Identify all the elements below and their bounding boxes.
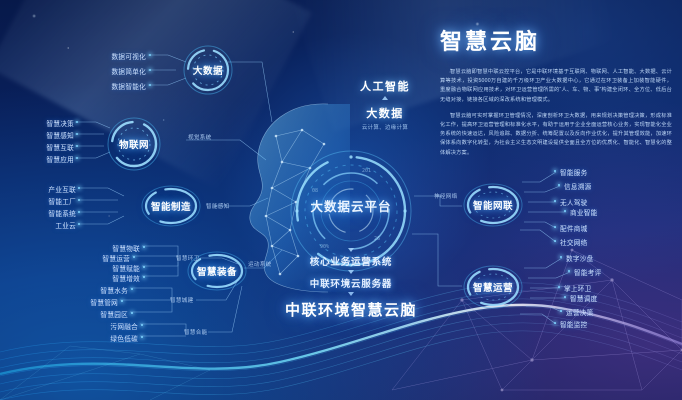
- arrow-down-icon: [348, 292, 354, 296]
- bottom-stack-line1: 核心业务运营系统: [268, 254, 434, 268]
- leaf-label: 配件商城: [560, 223, 588, 233]
- arrow-down-icon: [348, 270, 354, 274]
- leaf-dot-icon: [76, 145, 78, 147]
- connector-label-vision: 视觉系统: [188, 133, 212, 141]
- svg-text:26: 26: [374, 236, 380, 242]
- leaf-label: 数据智能化: [88, 81, 146, 91]
- leaf-label: 智慧物联: [84, 243, 140, 253]
- leaf-label: 智慧调度: [570, 293, 598, 303]
- leaf-dot-icon: [121, 300, 123, 302]
- hub-connected-label: 智能网联: [462, 182, 524, 228]
- leaf-label: 智慧运营: [74, 253, 130, 263]
- hub-connected[interactable]: 智能网联: [462, 182, 524, 228]
- group-label: 智慧城建: [170, 296, 194, 304]
- leaf-dot-icon: [564, 210, 566, 212]
- leaf-label: 信息溯源: [564, 181, 592, 191]
- leaf-dot-icon: [558, 184, 560, 186]
- leaf-label: 工业云: [22, 220, 76, 230]
- leaf-dot-icon: [141, 324, 143, 326]
- leaf-dot-icon: [564, 296, 566, 298]
- hub-bigdata[interactable]: 大数据: [182, 44, 234, 96]
- leaf-label: 智慧互联: [16, 142, 74, 152]
- leaf-label: 智能监控: [560, 319, 588, 329]
- leaf-label: 智慧园区: [72, 309, 128, 319]
- leaf-dot-icon: [78, 187, 80, 189]
- leaf-dot-icon: [554, 322, 556, 324]
- leaf-dot-icon: [76, 133, 78, 135]
- bottom-stack-line3: 中联环境智慧云脑: [268, 299, 434, 320]
- connector-label-motion: 运动系统: [248, 260, 272, 268]
- leaf-label: 智慧赋能: [84, 263, 140, 273]
- hub-manufacturing[interactable]: 智能制造: [140, 184, 202, 228]
- leaf-dot-icon: [133, 256, 135, 258]
- hub-bigdata-label: 大数据: [182, 44, 234, 96]
- leaf-dot-icon: [131, 312, 133, 314]
- leaf-dot-icon: [76, 121, 78, 123]
- leaf-dot-icon: [143, 276, 145, 278]
- group-label: 智慧合能: [184, 328, 208, 336]
- leaf-label: 智慧水务: [72, 285, 128, 295]
- leaf-dot-icon: [554, 226, 556, 228]
- leaf-label: 数据可视化: [88, 51, 146, 61]
- top-stack-line2: 大数据: [330, 105, 440, 121]
- hub-manufacturing-label: 智能制造: [140, 184, 202, 228]
- leaf-dot-icon: [78, 199, 80, 201]
- bottom-stack: 核心业务运营系统 中联环境云服务器 中联环境智慧云脑: [268, 246, 434, 320]
- leaf-dot-icon: [143, 246, 145, 248]
- leaf-dot-icon: [131, 288, 133, 290]
- core-platform-label: 大数据云平台: [288, 196, 414, 215]
- leaf-dot-icon: [554, 200, 556, 202]
- top-stack-sub: 云计算、边缘计算: [330, 123, 440, 131]
- leaf-label: 智慧感知: [16, 130, 74, 140]
- bottom-stack-line2: 中联环境云服务器: [268, 276, 434, 290]
- leaf-label: 数字沙盘: [566, 253, 594, 263]
- leaf-dot-icon: [78, 223, 80, 225]
- leaf-dot-icon: [141, 336, 143, 338]
- leaf-label: 智慧增效: [84, 273, 140, 283]
- info-panel: 智慧云脑 智慧云脑即智慧中联云控平台，它是中联环境基于互联网、物联网、人工智能、…: [440, 24, 672, 165]
- leaf-dot-icon: [558, 286, 560, 288]
- leaf-label: 产业互联: [22, 184, 76, 194]
- leaf-label: 智能系统: [22, 208, 76, 218]
- leaf-label: 智慧管网: [62, 297, 118, 307]
- svg-text:08: 08: [312, 188, 318, 194]
- hub-operations-label: 智慧运营: [462, 264, 524, 310]
- connector-label-perception: 智能感知: [206, 202, 230, 210]
- panel-title: 智慧云脑: [440, 24, 672, 56]
- leaf-dot-icon: [554, 170, 556, 172]
- group-label: 智慧环卫: [176, 254, 200, 262]
- leaf-label: 智能考评: [574, 267, 602, 277]
- connector-label-neural: 神经网络: [434, 192, 458, 200]
- leaf-dot-icon: [554, 240, 556, 242]
- leaf-label: 污网融合: [82, 321, 138, 331]
- top-stack-line1: 人工智能: [330, 78, 440, 94]
- arrow-up-icon: [382, 96, 388, 100]
- top-stack: 人工智能 大数据 云计算、边缘计算: [330, 78, 440, 131]
- leaf-label: 社交网络: [560, 237, 588, 247]
- leaf-label: 掌上环卫: [564, 283, 592, 293]
- leaf-label: 商业智能: [570, 207, 598, 217]
- leaf-dot-icon: [560, 310, 562, 312]
- leaf-label: 运营决策: [566, 307, 594, 317]
- leaf-dot-icon: [560, 256, 562, 258]
- leaf-dot-icon: [143, 266, 145, 268]
- leaf-label: 绿色低碳: [82, 333, 138, 343]
- leaf-label: 数据简单化: [88, 66, 146, 76]
- leaf-dot-icon: [76, 157, 78, 159]
- infographic-canvas: 20190% 2608 大数据云平台 人工智能 大数据 云计算、边缘计算 核心业…: [0, 0, 682, 400]
- leaf-dot-icon: [568, 270, 570, 272]
- leaf-label: 智能工厂: [22, 196, 76, 206]
- hub-operations[interactable]: 智慧运营: [462, 264, 524, 310]
- svg-text:201: 201: [362, 168, 371, 174]
- leaf-dot-icon: [78, 211, 80, 213]
- leaf-dot-icon: [149, 84, 151, 86]
- arrow-down-icon: [348, 248, 354, 252]
- hub-iot[interactable]: 物联网: [106, 116, 162, 172]
- leaf-label: 无人驾驶: [560, 197, 588, 207]
- leaf-dot-icon: [149, 69, 151, 71]
- leaf-label: 智慧决策: [16, 118, 74, 128]
- hub-iot-label: 物联网: [106, 116, 162, 172]
- leaf-label: 智能服务: [560, 167, 588, 177]
- leaf-label: 智慧应用: [16, 154, 74, 164]
- leaf-dot-icon: [149, 54, 151, 56]
- panel-paragraph: 智慧云脑即智慧中联云控平台，它是中联环境基于互联网、物联网、人工智能、大数据、云…: [440, 68, 672, 105]
- panel-paragraph: 智慧云脑可实时掌握环卫管理情况，深度剖析环卫大数据，用来规划决策管理决策，形成标…: [440, 112, 672, 158]
